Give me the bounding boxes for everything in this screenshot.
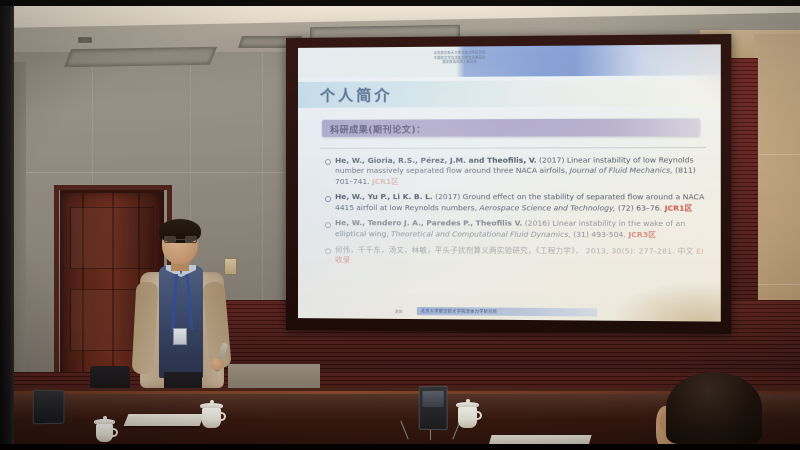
presenter-standing	[126, 222, 238, 406]
shirt	[159, 266, 203, 378]
white-lidded-teacup[interactable]	[458, 406, 477, 428]
reference-authors: He, W., Gioria, R.S., Pérez, J.M. and Th…	[335, 156, 537, 165]
seated-attendee	[654, 372, 774, 450]
reference-journal: Theoretical and Computational Fluid Dyna…	[391, 229, 571, 239]
reference-year: (2016)	[525, 219, 550, 228]
white-lidded-teacup[interactable]	[202, 407, 221, 428]
presentation-photo: 北京航空航天大学流体力学研究所 中国航空学会流体力学专业委员会 国家数值风洞工程…	[0, 0, 800, 450]
projector-hotspot-glow	[610, 280, 721, 322]
slide-footer-text: 北京大学航空航天学院流体力学研究所	[421, 308, 497, 315]
list-item: He, W., Gioria, R.S., Pérez, J.M. and Th…	[324, 155, 706, 187]
reference-jcr-tag: JCR3区	[628, 230, 656, 239]
projection-screen-frame: 北京航空航天大学流体力学研究所 中国航空学会流体力学专业委员会 国家数值风洞工程…	[286, 34, 731, 334]
hand	[210, 358, 224, 370]
reference-locator: 中文	[678, 246, 694, 255]
reference-journal: Journal of Fluid Mechanics,	[570, 166, 673, 175]
reference-year: 2013,	[586, 246, 609, 255]
slide-footer-bar: 北京大学航空航天学院流体力学研究所	[417, 307, 598, 317]
white-lidded-teacup[interactable]	[96, 423, 113, 442]
powerpoint-slide: 北京航空航天大学流体力学研究所 中国航空学会流体力学专业委员会 国家数值风洞工程…	[298, 44, 721, 321]
reference-authors: 何伟，千千东，汤文，林敏，平头子扰剂算义两实验研究，《工程力学》，	[335, 245, 583, 255]
reference-journal: Aerospace Science and Technology,	[479, 203, 615, 212]
slide-footer-mark: 流体	[395, 308, 403, 314]
projection-screen: 北京航空航天大学流体力学研究所 中国航空学会流体力学专业委员会 国家数值风洞工程…	[298, 44, 721, 321]
list-item: He, W., Tendero J. A., Paredes P., Theof…	[324, 219, 706, 241]
slide-bullet-list: He, W., Gioria, R.S., Pérez, J.M. and Th…	[324, 155, 706, 273]
reference-locator: (72) 63–76.	[618, 203, 662, 212]
reference-jcr-tag: JCR1区	[372, 177, 399, 186]
ceiling-vent-main	[64, 47, 217, 68]
slide-institution-text: 北京航空航天大学流体力学研究所 中国航空学会流体力学专业委员会 国家数值风洞工程…	[395, 50, 526, 65]
letterbox-top	[0, 0, 800, 6]
reference-authors: He, W., Tendero J. A., Paredes P., Theof…	[335, 219, 522, 229]
name-badge	[173, 328, 187, 345]
ceiling-vent-small	[78, 37, 92, 43]
slide-title: 个人简介	[320, 84, 393, 105]
laptop[interactable]	[33, 390, 65, 425]
photo-left-dark-edge	[0, 6, 14, 450]
letterbox-bottom	[0, 444, 800, 450]
reference-year: (2017)	[539, 156, 564, 165]
reference-authors: He, W., Yu P., Li K. B. L.	[335, 192, 433, 201]
hair	[666, 372, 762, 444]
reference-year: (2017)	[435, 192, 460, 201]
list-item: 何伟，千千东，汤文，林敏，平头子扰剂算义两实验研究，《工程力学》， 2013, …	[324, 245, 706, 268]
list-item: He, W., Yu P., Li K. B. L. (2017) Ground…	[324, 192, 706, 213]
slide-divider	[320, 147, 706, 149]
laptop[interactable]	[419, 386, 448, 431]
glasses-icon	[164, 236, 197, 243]
reference-text: 30(5): 277-281.	[611, 246, 675, 255]
slide-subhead-bar: 科研成果(期刊论文)：	[322, 118, 700, 137]
reference-jcr-tag: JCR1区	[665, 203, 693, 212]
slide-subhead-text: 科研成果(期刊论文)：	[330, 122, 426, 135]
reference-locator: (31) 493-504.	[573, 230, 626, 239]
papers-on-table[interactable]	[124, 414, 205, 426]
